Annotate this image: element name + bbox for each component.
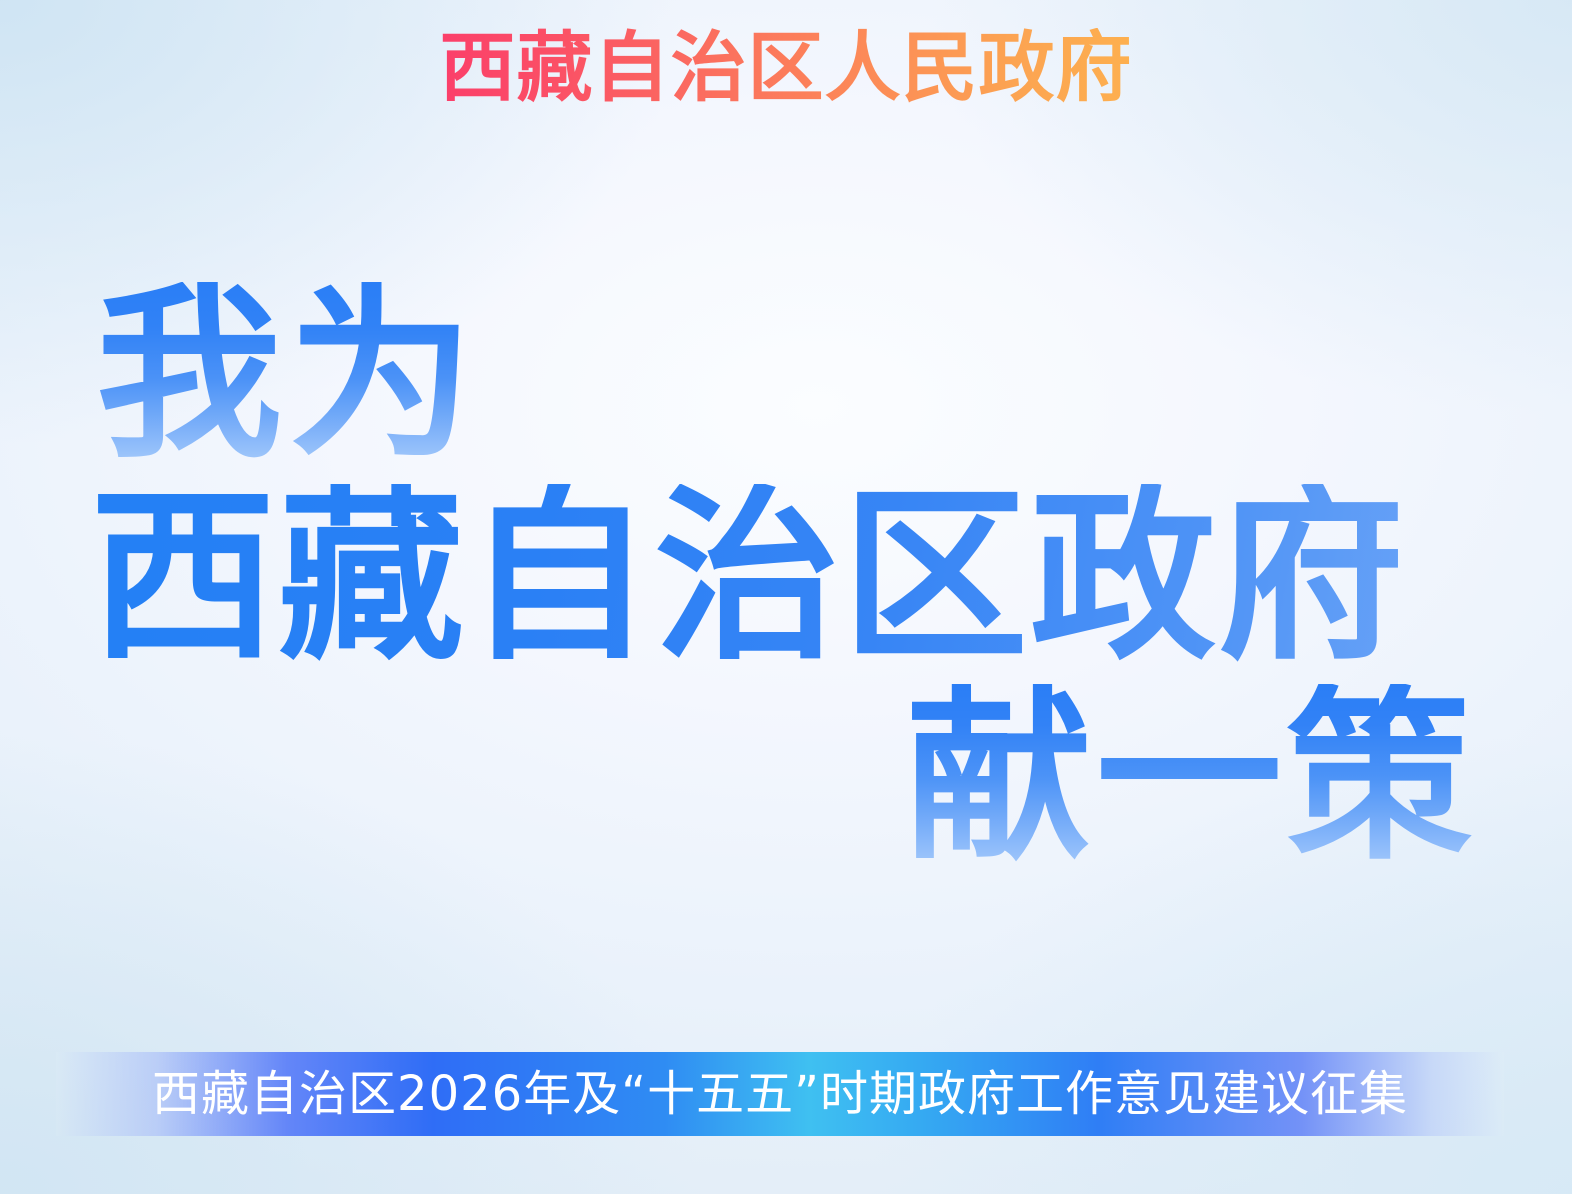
headline-line-1: 我为 xyxy=(0,282,1572,468)
headline-line-2: 西藏自治区政府 xyxy=(0,484,1572,670)
organization-title: 西藏自治区人民政府 xyxy=(440,28,1133,109)
campaign-banner: 西藏自治区2026年及“十五五”时期政府工作意见建议征集 xyxy=(56,1052,1504,1136)
poster-root: 西藏自治区人民政府 我为 西藏自治区政府 献一策 西藏自治区2026年及“十五五… xyxy=(0,0,1572,1194)
header: 西藏自治区人民政府 xyxy=(0,28,1572,109)
headline-line-3: 献一策 xyxy=(0,684,1572,870)
headline-block: 我为 西藏自治区政府 献一策 xyxy=(0,282,1572,870)
campaign-banner-text: 西藏自治区2026年及“十五五”时期政府工作意见建议征集 xyxy=(152,1070,1408,1118)
